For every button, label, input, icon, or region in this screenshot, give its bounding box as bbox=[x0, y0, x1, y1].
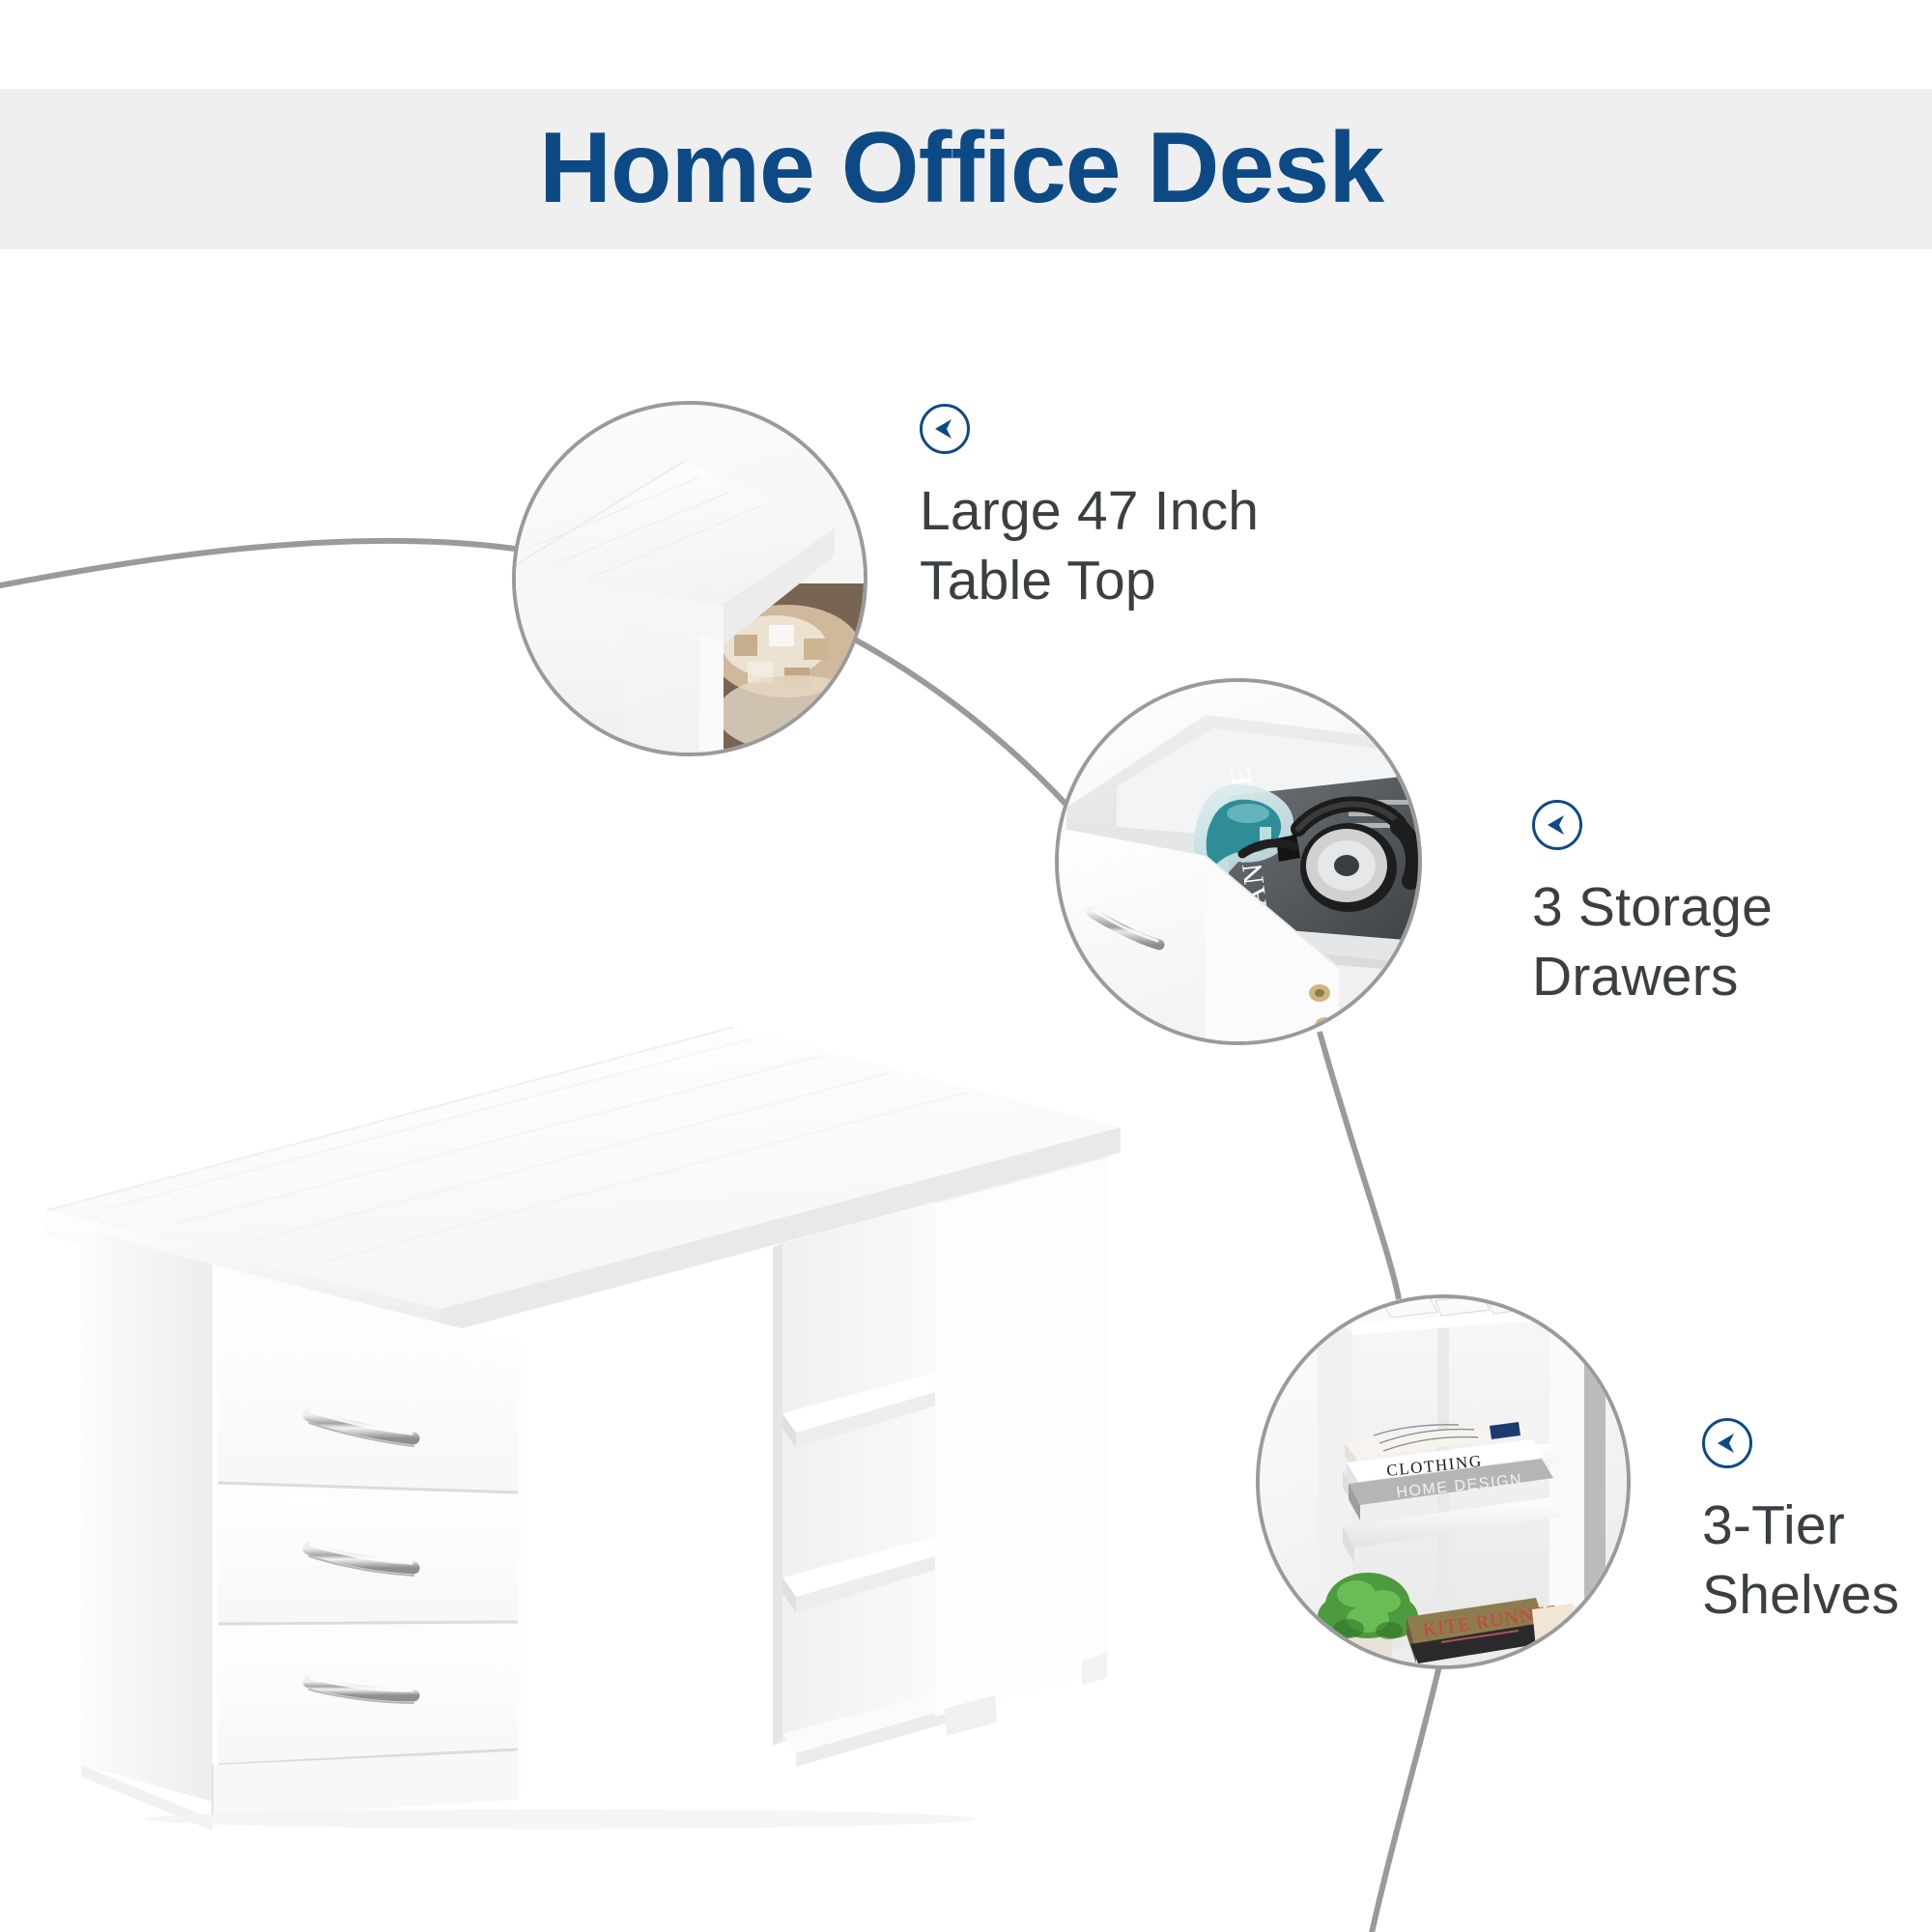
callout-label-table-top: Large 47 Inch Table Top bbox=[920, 404, 1259, 614]
chevron-left-circle-icon bbox=[920, 404, 970, 454]
callout-label-text: 3 Storage bbox=[1532, 873, 1773, 941]
callout-circle-table-top bbox=[512, 401, 867, 756]
callout-circle-tier-shelves: CLOTHING HOME DESIGN bbox=[1256, 1294, 1631, 1669]
callout-label-text: 3-Tier bbox=[1702, 1492, 1899, 1559]
shelves-photo: CLOTHING HOME DESIGN bbox=[1260, 1298, 1627, 1665]
table-top-photo bbox=[516, 405, 864, 753]
drawer-2 bbox=[218, 1494, 518, 1624]
infographic-canvas: Home Office Desk bbox=[0, 0, 1932, 1932]
product-image-desk bbox=[19, 1019, 1159, 1831]
callout-circle-storage-drawers: ANTIQUE bbox=[1055, 678, 1422, 1045]
desk-illustration bbox=[19, 1019, 1159, 1831]
page-title: Home Office Desk bbox=[0, 96, 1922, 241]
drawer-photo: ANTIQUE bbox=[1059, 682, 1418, 1041]
callout-label-text: Large 47 Inch bbox=[920, 477, 1259, 545]
chevron-left-circle-icon bbox=[1532, 800, 1582, 850]
callout-label-tier-shelves: 3-Tier Shelves bbox=[1702, 1418, 1899, 1629]
chevron-left-circle-icon bbox=[1702, 1418, 1752, 1468]
drawer-3 bbox=[218, 1630, 518, 1765]
callout-label-text-2: Drawers bbox=[1532, 943, 1773, 1010]
callout-label-text-2: Shelves bbox=[1702, 1561, 1899, 1629]
callout-label-storage-drawers: 3 Storage Drawers bbox=[1532, 800, 1773, 1010]
callout-label-text-2: Table Top bbox=[920, 547, 1259, 614]
